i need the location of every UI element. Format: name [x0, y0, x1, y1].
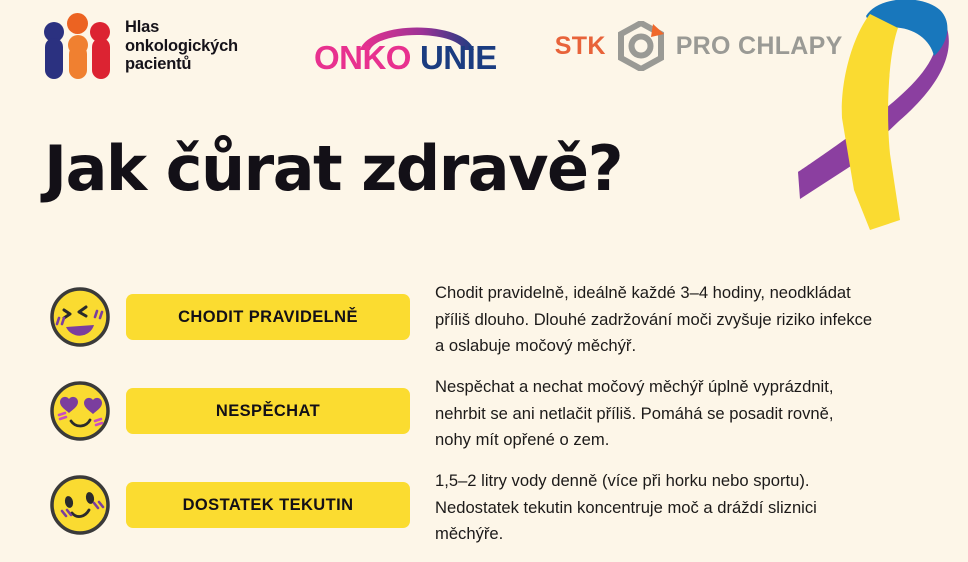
tip-description: Chodit pravidelně, ideálně každé 3–4 hod… — [435, 280, 927, 360]
tip-description-line: nohy mít opřené o zem. — [435, 427, 927, 454]
tip-label-pill[interactable]: DOSTATEK TEKUTIN — [126, 482, 410, 528]
logo-hlas-line-3: pacientů — [125, 55, 238, 74]
tip-row: NESPĚCHAT Nespěchat a nechat močový měch… — [0, 366, 968, 460]
logo-unie-word: UNIE — [420, 41, 497, 75]
tip-description-line: Nedostatek tekutin koncentruje moč a drá… — [435, 495, 927, 522]
heart-eyes-emoji — [48, 379, 112, 443]
tip-label: CHODIT PRAVIDELNĚ — [178, 308, 358, 327]
tip-description-line: 1,5–2 litry vody denně (více při horku n… — [435, 468, 927, 495]
tip-label-pill[interactable]: NESPĚCHAT — [126, 388, 410, 434]
logo-hlas-line-2: onkologických — [125, 37, 238, 56]
logo-onko-word: ONKO — [314, 41, 411, 75]
tip-label: NESPĚCHAT — [216, 402, 320, 421]
logo-stk-word: STK — [555, 32, 606, 61]
tip-description-line: měchýře. — [435, 521, 927, 548]
logo-hlas-line-1: Hlas — [125, 18, 238, 37]
page-title: Jak čůrat zdravě? — [44, 133, 622, 205]
tip-description-line: příliš dlouho. Dlouhé zadržování moči zv… — [435, 307, 927, 334]
smiling-face-emoji — [48, 473, 112, 537]
logo-pro-chlapy-word: PRO CHLAPY — [676, 32, 843, 61]
logo-onko-unie: ONKO UNIE — [314, 17, 497, 75]
logo-stk-pro-chlapy: STK PRO CHLAPY — [555, 21, 843, 71]
tip-row: DOSTATEK TEKUTIN 1,5–2 litry vody denně … — [0, 460, 968, 554]
logo-hlas-onkologickych-pacientu: Hlas onkologických pacientů — [44, 13, 238, 79]
tip-row: CHODIT PRAVIDELNĚ Chodit pravidelně, ide… — [0, 272, 968, 366]
tip-description-line: Nespěchat a nechat močový měchýř úplně v… — [435, 374, 927, 401]
laughing-face-emoji — [48, 285, 112, 349]
tip-description: 1,5–2 litry vody denně (více při horku n… — [435, 468, 927, 548]
tip-description-line: nehrbit se ani netlačit příliš. Pomáhá s… — [435, 401, 927, 428]
hex-nut-icon — [615, 21, 667, 71]
tips-list: CHODIT PRAVIDELNĚ Chodit pravidelně, ide… — [0, 272, 968, 554]
logo-hlas-text: Hlas onkologických pacientů — [125, 18, 238, 74]
tip-label: DOSTATEK TEKUTIN — [183, 496, 354, 515]
tip-label-pill[interactable]: CHODIT PRAVIDELNĚ — [126, 294, 410, 340]
logo-header-bar: Hlas onkologických pacientů ONKO UNIE ST… — [0, 0, 968, 92]
hlas-onkologickych-pacientu-mark-icon — [44, 13, 112, 79]
tip-description-line: Chodit pravidelně, ideálně každé 3–4 hod… — [435, 280, 927, 307]
tip-description-line: a oslabuje močový měchýř. — [435, 333, 927, 360]
tip-description: Nespěchat a nechat močový měchýř úplně v… — [435, 374, 927, 454]
